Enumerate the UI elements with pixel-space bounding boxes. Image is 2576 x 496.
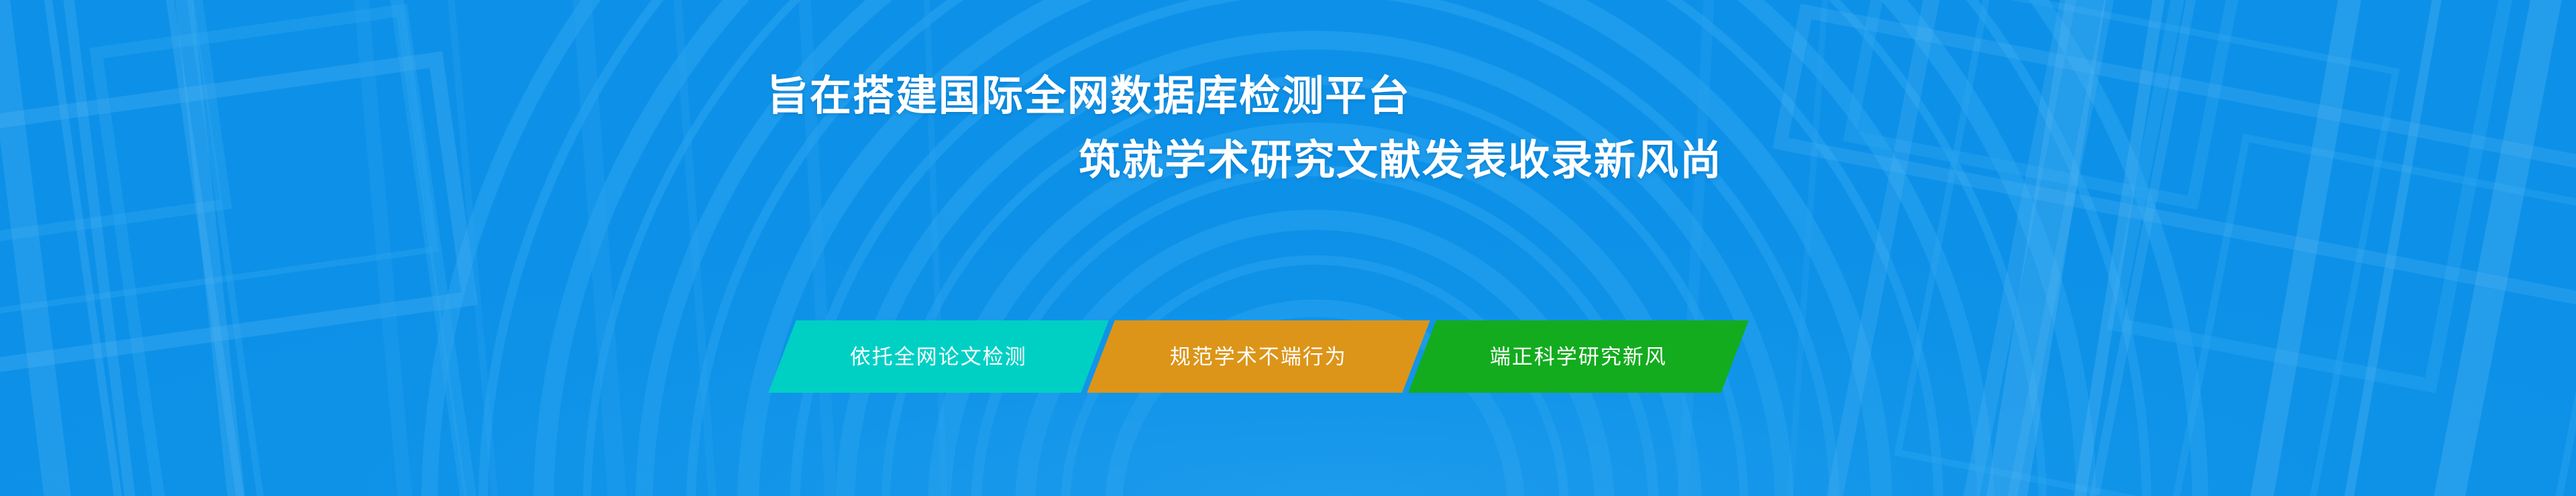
feature-tag-academic-misconduct[interactable]: 规范学术不端行为	[1087, 320, 1430, 393]
feature-tag-plagiarism-detection[interactable]: 依托全网论文检测	[768, 320, 1108, 393]
headline-block: 旨在搭建国际全网数据库检测平台 筑就学术研究文献发表收录新风尚	[0, 64, 2576, 193]
headline-line-2: 筑就学术研究文献发表收录新风尚	[1079, 129, 2576, 193]
feature-tag-bar: 依托全网论文检测 规范学术不端行为 端正科学研究新风	[782, 320, 1735, 393]
feature-tag-label: 端正科学研究新风	[1490, 347, 1667, 367]
promo-banner: 旨在搭建国际全网数据库检测平台 筑就学术研究文献发表收录新风尚 依托全网论文检测…	[0, 0, 2576, 496]
feature-tag-label: 规范学术不端行为	[1170, 347, 1347, 367]
feature-tag-label: 依托全网论文检测	[850, 347, 1027, 367]
feature-tag-research-integrity[interactable]: 端正科学研究新风	[1408, 320, 1748, 393]
headline-line-1: 旨在搭建国际全网数据库检测平台	[767, 64, 2576, 129]
